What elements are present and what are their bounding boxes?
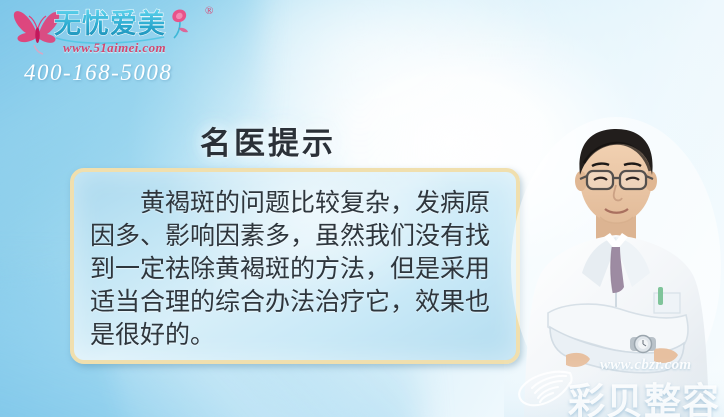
brand-phone-number: 400-168-5008 bbox=[24, 60, 172, 86]
video-frame: 无忧爱美 ® www.51aimei.com 400-168-5008 名医提示… bbox=[0, 0, 724, 417]
channel-watermark: www.cbzr.com 彩贝整容 bbox=[508, 355, 720, 415]
rose-icon bbox=[172, 10, 188, 38]
quote-text: 黄褐斑的问题比较复杂，发病原因多、影响因素多，虽然我们没有找到一定祛除黄褐斑的方… bbox=[74, 172, 516, 351]
quote-card: 黄褐斑的问题比较复杂，发病原因多、影响因素多，虽然我们没有找到一定祛除黄褐斑的方… bbox=[70, 168, 520, 364]
brand-url: www.51aimei.com bbox=[63, 40, 166, 56]
brand-logo-block: 无忧爱美 ® www.51aimei.com 400-168-5008 bbox=[8, 2, 248, 94]
watermark-brand-name: 彩贝整容 bbox=[568, 371, 720, 417]
registered-mark-icon: ® bbox=[205, 5, 213, 17]
svg-text:无忧爱美: 无忧爱美 bbox=[54, 8, 166, 40]
section-title: 名医提示 bbox=[200, 118, 336, 163]
wristwatch-icon bbox=[630, 336, 656, 353]
shell-icon bbox=[514, 367, 576, 409]
